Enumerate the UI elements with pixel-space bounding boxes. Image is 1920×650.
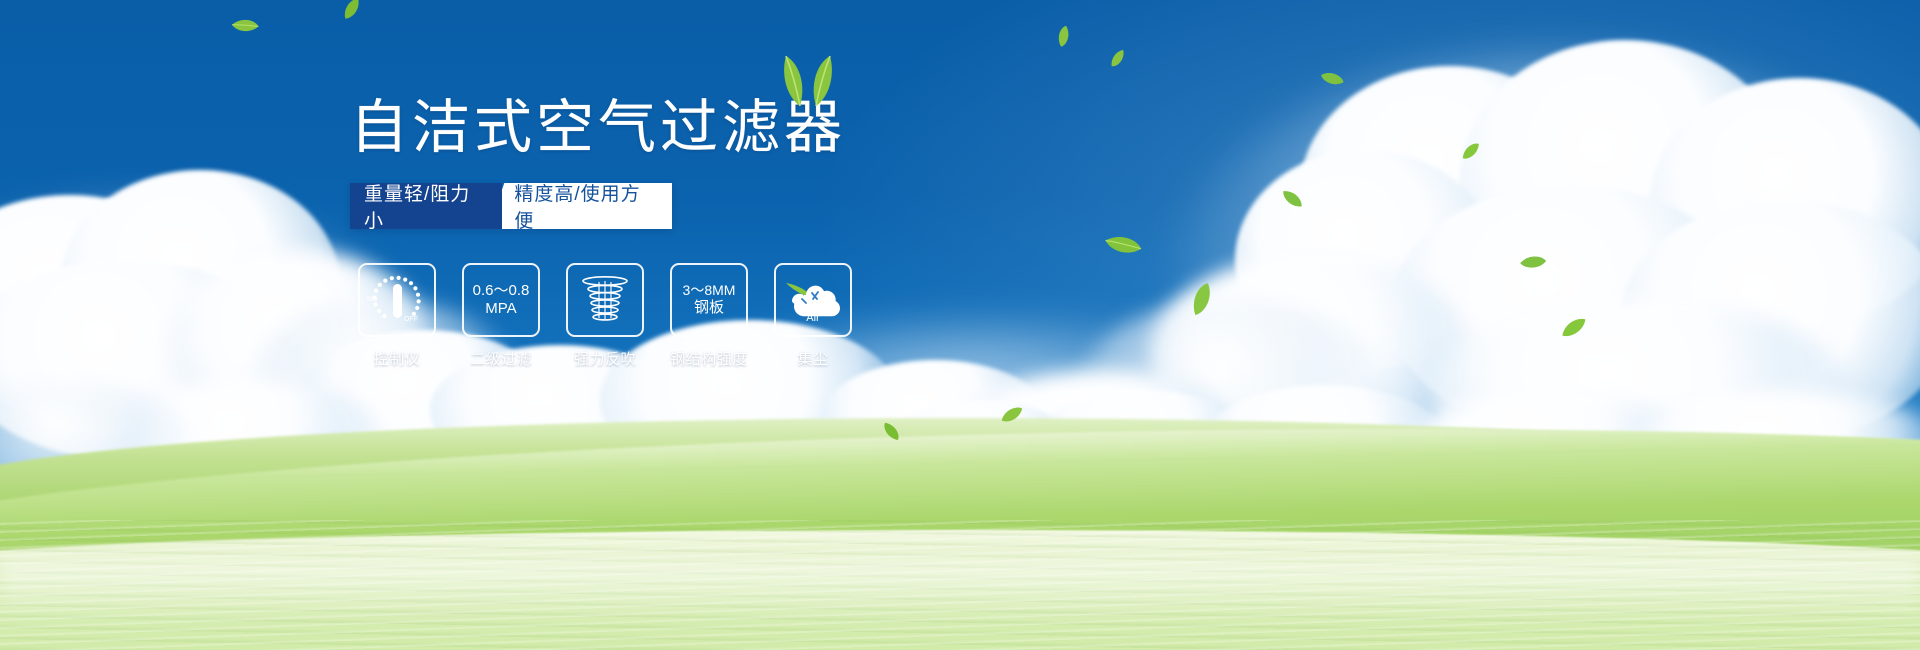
feature-label: 二级过滤 [462, 348, 540, 369]
feature-item-pressure[interactable]: 0.6～0.8 MPA 二级过滤 [462, 263, 540, 369]
steel-material-text: 钢板 [694, 299, 724, 317]
feature-icon-box: Air [774, 263, 852, 337]
feature-icon-list: NO OFF 控制仪 0.6～0.8 MPA 二级过滤 [358, 263, 1050, 369]
feature-item-blowback[interactable]: 强力反吹 [566, 263, 644, 369]
subtitle-pills: 重量轻/阻力小 精度高/使用方便 [350, 183, 672, 229]
grass-field-front [0, 530, 1920, 650]
feature-item-control[interactable]: NO OFF 控制仪 [358, 263, 436, 369]
feature-item-steel[interactable]: 3～8MM 钢板 钢结构强度 [670, 263, 748, 369]
feature-icon-box: NO OFF [358, 263, 436, 337]
leaf-sprout-icon [770, 52, 840, 108]
pressure-unit-text: MPA [485, 300, 516, 318]
subtitle-pill-left: 重量轻/阻力小 [350, 183, 502, 229]
feature-icon-box: 3～8MM 钢板 [670, 263, 748, 337]
feature-icon-box: 0.6～0.8 MPA [462, 263, 540, 337]
feature-label: 强力反吹 [566, 348, 644, 369]
pressure-range-text: 0.6～0.8 [473, 282, 530, 300]
air-cloud-icon: Air [782, 277, 844, 323]
banner-content: 自洁式空气过滤器 重量轻/阻力小 精度高/使用方便 [350, 96, 1050, 369]
feature-label: 钢结构强度 [670, 348, 748, 369]
feature-label: 控制仪 [358, 348, 436, 369]
feature-item-dust[interactable]: Air 集尘 [774, 263, 852, 369]
feature-label: 集尘 [774, 348, 852, 369]
title-row: 自洁式空气过滤器 [350, 96, 846, 161]
subtitle-pill-right: 精度高/使用方便 [488, 183, 672, 229]
dial-off-label: OFF [404, 316, 418, 323]
steel-thickness-text: 3～8MM [683, 282, 736, 299]
filter-coil-icon [577, 273, 633, 327]
product-hero-banner: 自洁式空气过滤器 重量轻/阻力小 精度高/使用方便 [0, 0, 1920, 650]
dial-on-label: NO [367, 296, 378, 303]
air-label: Air [806, 312, 820, 323]
feature-icon-box [566, 263, 644, 337]
control-dial-icon: NO OFF [365, 271, 429, 329]
